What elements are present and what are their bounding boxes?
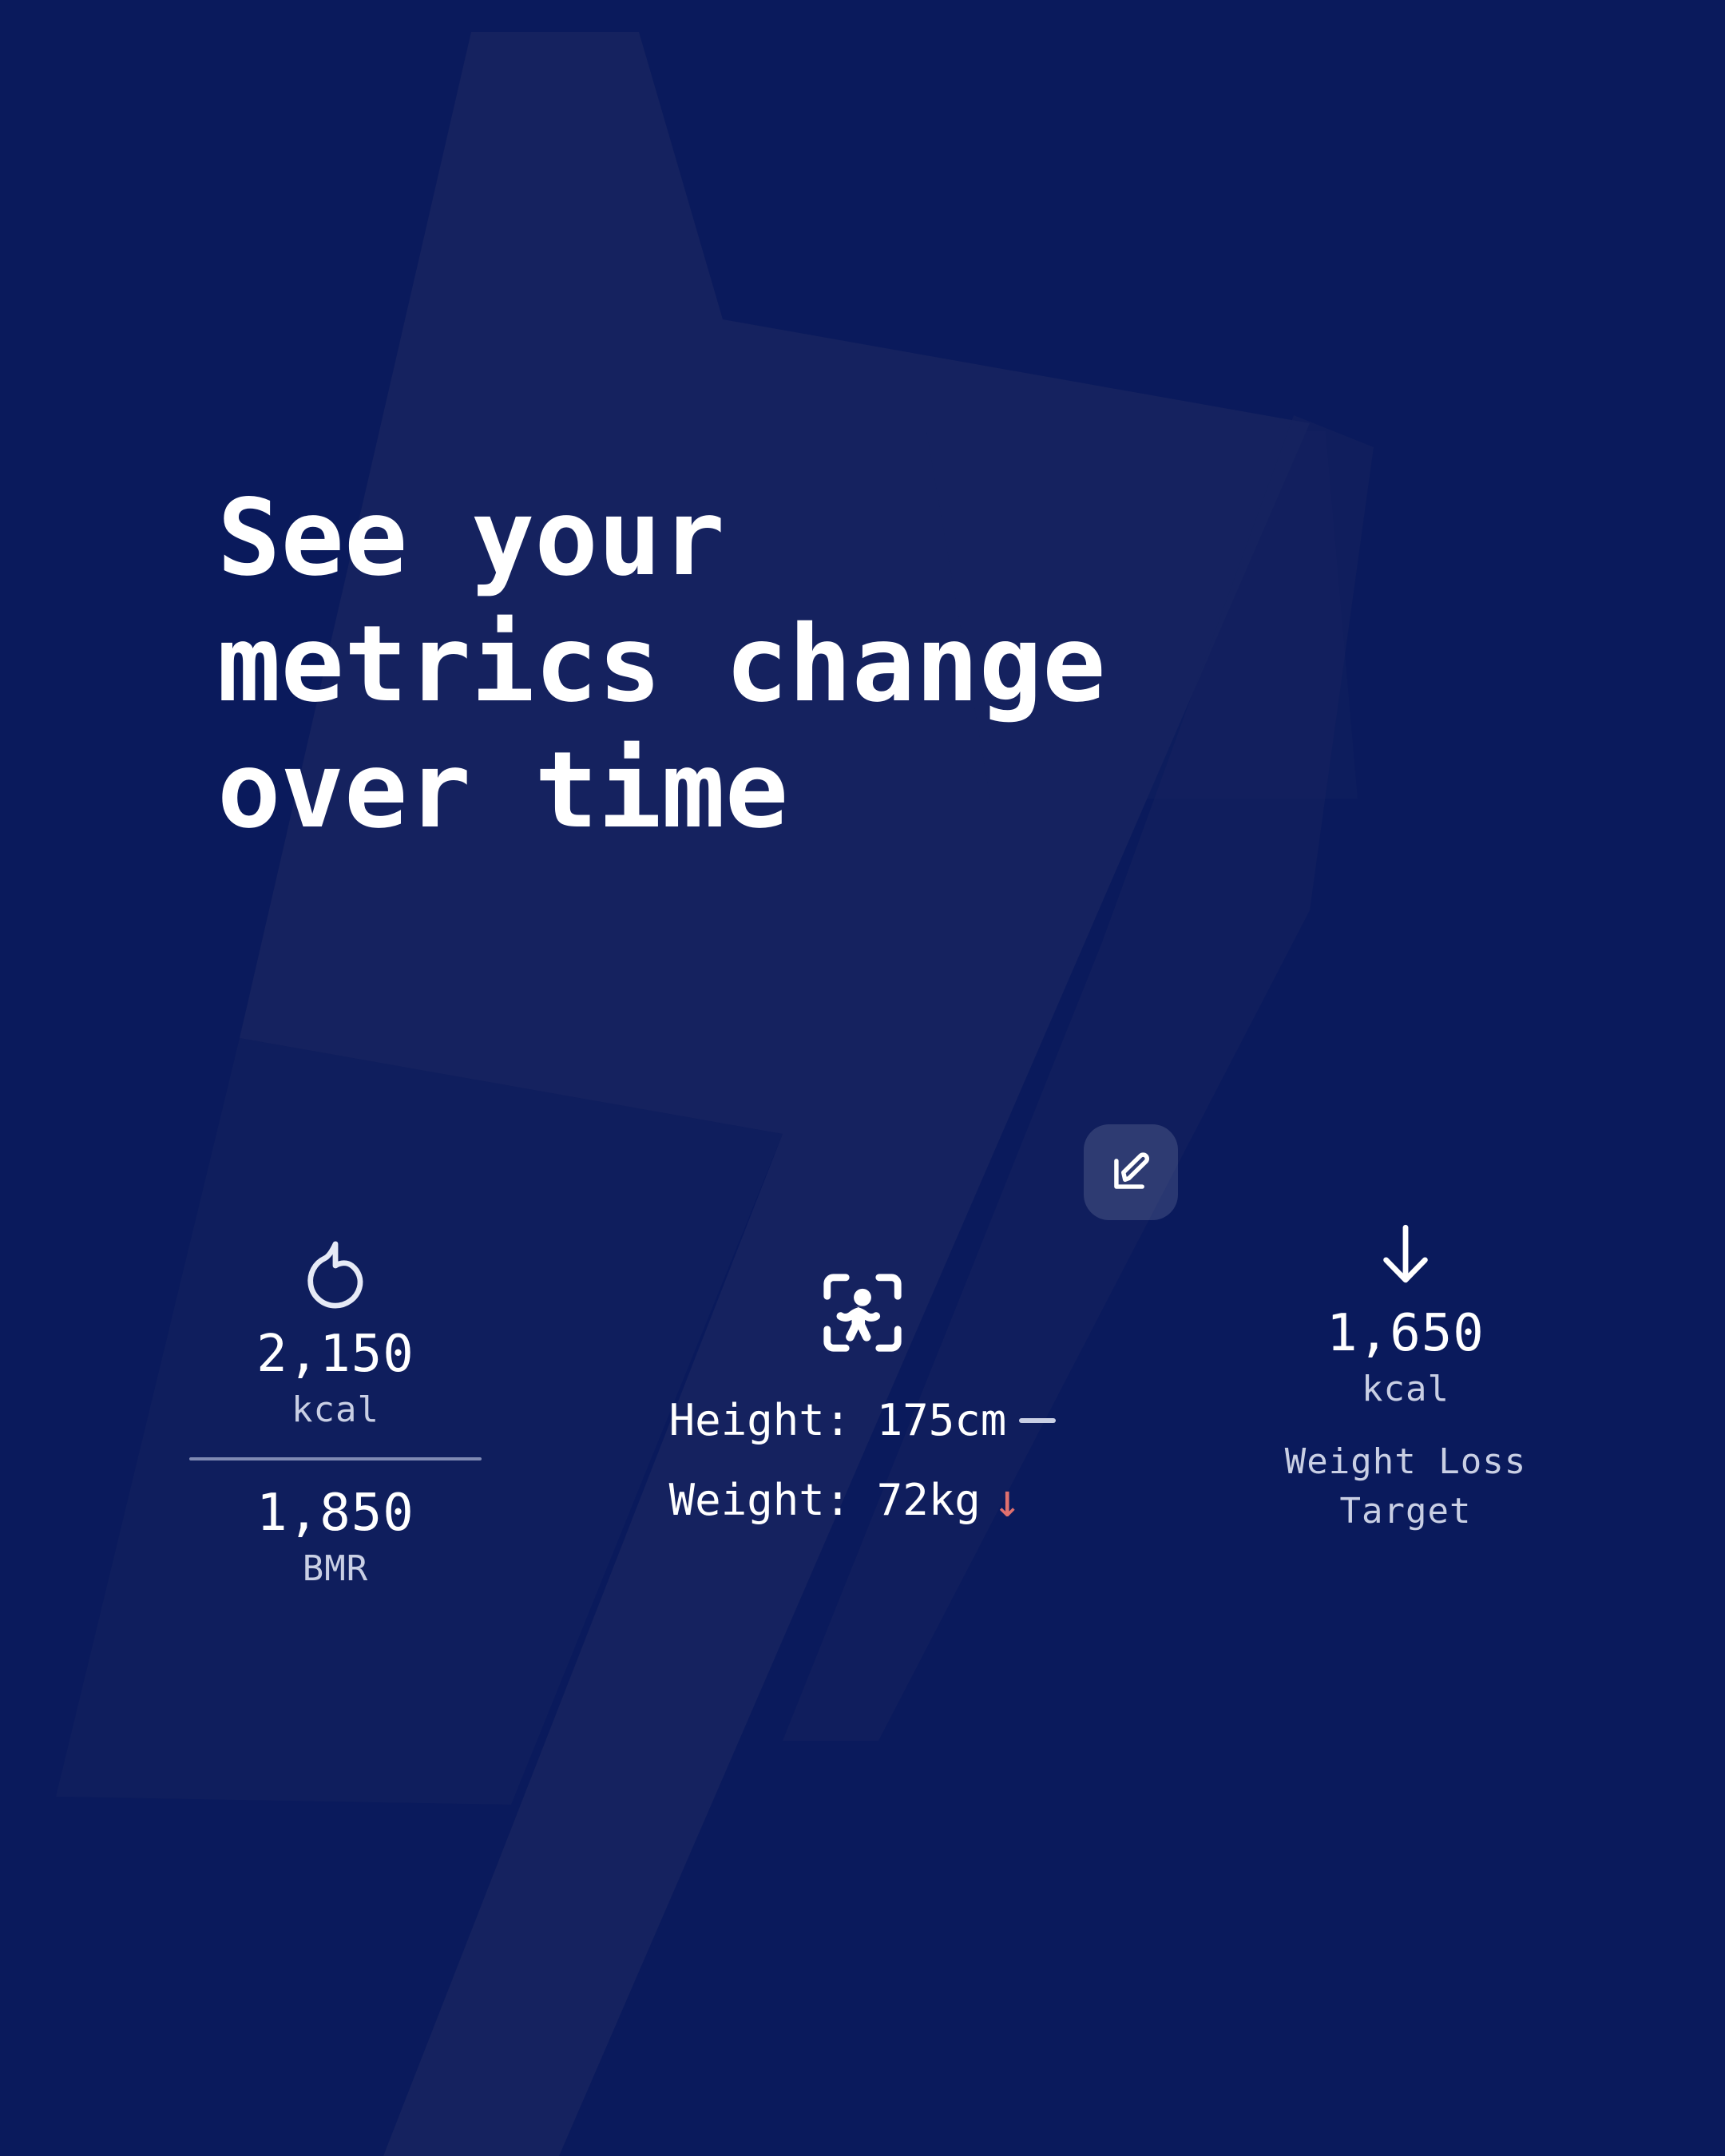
energy-value: 2,150 <box>256 1322 414 1386</box>
weight-row: Weight: 72kg ↓ <box>669 1469 1057 1532</box>
bmr-label: BMR <box>303 1545 368 1592</box>
trend-flat-icon <box>1019 1418 1056 1423</box>
background-bolt-decoration <box>0 0 1725 2156</box>
energy-unit: kcal <box>291 1386 379 1433</box>
target-value: 1,650 <box>1326 1302 1485 1365</box>
body-stat-lines: Height: 175cm Weight: 72kg ↓ <box>669 1389 1057 1532</box>
page-title: See your metrics change over time <box>217 485 1575 864</box>
edit-pencil-square-icon <box>1106 1147 1156 1197</box>
target-label-line-2: Target <box>1340 1488 1472 1535</box>
arrow-down-icon <box>1374 1222 1437 1290</box>
target-label-line-1: Weight Loss <box>1285 1437 1526 1488</box>
height-text: Height: 175cm <box>669 1389 1007 1452</box>
edit-metrics-button[interactable] <box>1084 1124 1178 1220</box>
flame-icon <box>302 1238 369 1311</box>
bmr-value: 1,850 <box>256 1481 414 1545</box>
weight-text: Weight: 72kg <box>669 1469 981 1532</box>
metric-divider <box>189 1457 482 1460</box>
metrics-row: 2,150 kcal 1,850 BMR <box>0 1222 1725 1717</box>
onboarding-screen: See your metrics change over time 2,150 … <box>0 0 1725 2156</box>
trend-down-icon: ↓ <box>993 1477 1021 1524</box>
metric-energy: 2,150 kcal 1,850 BMR <box>136 1238 535 1593</box>
height-row: Height: 175cm <box>669 1389 1057 1452</box>
headline-line-1: See your <box>217 485 1575 591</box>
metric-body: Height: 175cm Weight: 72kg ↓ <box>607 1271 1118 1532</box>
headline-line-2: metrics change <box>217 612 1575 717</box>
body-scan-person-icon <box>821 1271 904 1354</box>
metric-target: 1,650 kcal Weight Loss Target <box>1230 1222 1581 1536</box>
target-unit: kcal <box>1362 1365 1449 1413</box>
headline-line-3: over time <box>217 738 1575 843</box>
